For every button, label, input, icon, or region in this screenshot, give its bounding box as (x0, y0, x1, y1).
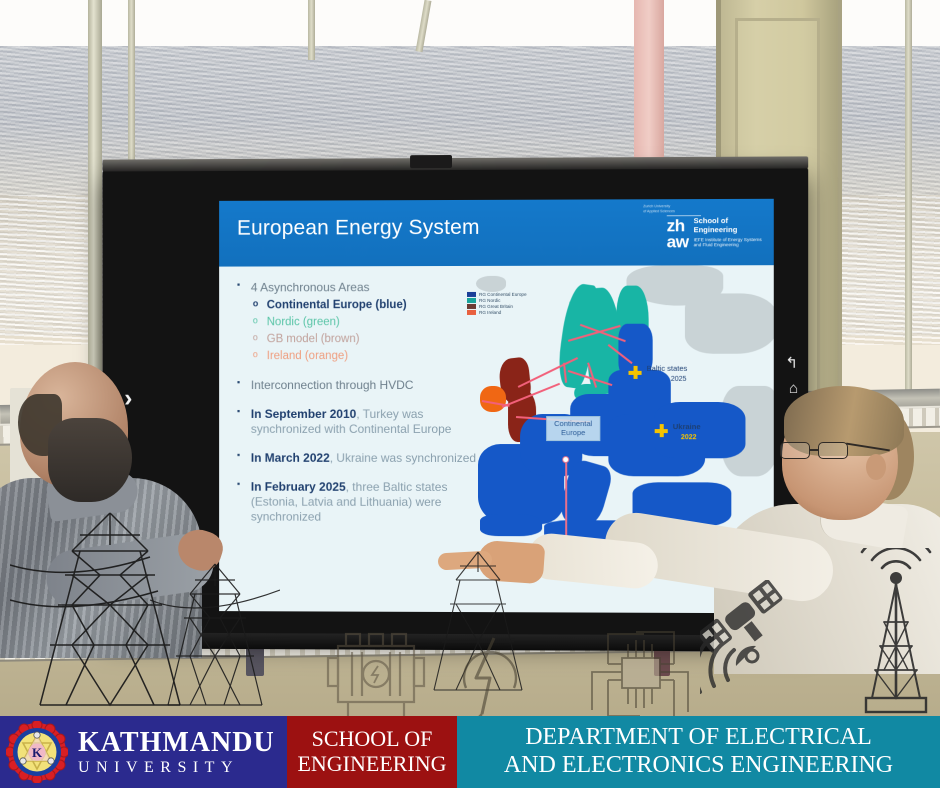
legend-label: RG Continental Europe (479, 292, 527, 297)
bullet-lead: In February 2025 (251, 479, 346, 493)
radio-tower-icon (842, 548, 940, 716)
banner-university-segment: K KATHMANDU UNIVERSITY (0, 716, 287, 788)
map-region-morocco (480, 514, 542, 536)
bullet-text: 4 Asynchronous Areas (251, 280, 370, 294)
display-top-rail (102, 156, 808, 171)
map-legend: RG Continental Europe RG Nordic RG Great… (467, 292, 527, 316)
map-region-russia (685, 293, 774, 353)
map-label-baltic-year: 2025 (671, 376, 687, 383)
zhaw-school-text: School ofEngineering IEFE Institute of E… (694, 204, 762, 248)
sub-bullet-ireland: Ireland (orange) (233, 349, 490, 364)
display-camera (410, 155, 452, 168)
undo-icon[interactable]: ↰ (785, 354, 798, 372)
bullet-item: In February 2025, three Baltic states (E… (233, 479, 490, 524)
legend-item: RG Nordic (467, 298, 527, 303)
legend-label: RG Nordic (479, 298, 500, 303)
legend-label: RG Great Britain (479, 304, 513, 309)
department-name-line1: DEPARTMENT OF ELECTRICAL (504, 724, 893, 752)
baltic-marker-icon (629, 366, 642, 379)
map-label-ukraine: Ukraine (673, 422, 701, 431)
map-label-ukraine-year: 2022 (681, 434, 697, 441)
university-name-line2: UNIVERSITY (78, 760, 275, 776)
map-label-continental-europe: ContinentalEurope (546, 416, 600, 441)
sub-bullet-nordic: Nordic (green) (233, 315, 490, 330)
zhaw-school-name: School ofEngineering (694, 217, 762, 235)
sub-bullet-label: Ireland (orange) (267, 350, 348, 362)
map-region-iceland (476, 276, 506, 292)
slide-header: European Energy System Zurich University… (219, 199, 774, 267)
bullet-item: Interconnection through HVDC (233, 378, 490, 393)
school-name-line2: ENGINEERING (297, 752, 446, 777)
legend-item: RG Continental Europe (467, 292, 527, 297)
map-label-baltic-states: Baltic states (647, 364, 688, 373)
sub-bullet-gb: GB model (brown) (233, 332, 490, 347)
zhaw-wordmark: zh aw (667, 204, 689, 250)
lightning-bolt-icon (452, 630, 528, 726)
legend-swatch (467, 298, 476, 303)
university-name-line1: KATHMANDU (78, 729, 275, 757)
bullet-item: In September 2010, Turkey was synchroniz… (233, 407, 490, 437)
transmission-tower-icon (150, 560, 280, 710)
zhaw-logo: zh aw School ofEngineering IEFE Institut… (667, 204, 762, 250)
window-mullion (308, 0, 315, 60)
banner-school-segment: SCHOOL OF ENGINEERING (287, 716, 457, 788)
bullet-text: , Ukraine was synchronized (330, 451, 476, 465)
bullet-lead: In September 2010 (251, 407, 356, 421)
zhaw-institute-name: IEFE Institute of Energy Systemsand Flui… (694, 237, 762, 248)
legend-swatch (467, 310, 476, 315)
map-region-ireland (480, 386, 506, 412)
sub-bullet-label: Nordic (green) (267, 316, 340, 328)
bottom-banner: K KATHMANDU UNIVERSITY SCHOOL OF ENGINEE… (0, 716, 940, 788)
school-name-line1: SCHOOL OF (297, 727, 446, 752)
sub-bullet-label: Continental Europe (blue) (267, 299, 407, 311)
department-name: DEPARTMENT OF ELECTRICAL AND ELECTRONICS… (504, 724, 893, 780)
glasses-lens-right (818, 442, 848, 459)
legend-swatch (467, 292, 476, 297)
satellite-icon (700, 580, 820, 700)
legend-item: RG Great Britain (467, 304, 527, 309)
glasses-lens-left (780, 442, 810, 459)
left-person-beard (48, 418, 132, 502)
legend-item: RG Ireland (467, 310, 527, 315)
slide-bullet-list: 4 Asynchronous Areas Continental Europe … (233, 280, 490, 528)
right-person-glasses (780, 442, 862, 460)
sub-bullet-label: GB model (brown) (267, 333, 360, 345)
bullet-item: In March 2022, Ukraine was synchronized (233, 451, 490, 466)
presentation-photo: › ↰ ⌂ European Energy System Zurich Univ… (0, 0, 940, 788)
zhaw-wordmark-line2: aw (667, 234, 689, 250)
department-name-line2: AND ELECTRONICS ENGINEERING (504, 752, 893, 780)
slide-title: European Energy System (237, 216, 480, 241)
school-name: SCHOOL OF ENGINEERING (297, 727, 446, 776)
ukraine-marker-icon (655, 424, 668, 437)
sub-bullet-continental: Continental Europe (blue) (233, 298, 490, 313)
bullet-item: 4 Asynchronous Areas (233, 280, 490, 296)
transformer-icon (318, 628, 434, 724)
bullet-lead: In March 2022 (251, 451, 330, 465)
banner-department-segment: DEPARTMENT OF ELECTRICAL AND ELECTRONICS… (457, 716, 940, 788)
window-mullion (905, 0, 912, 420)
university-name: KATHMANDU UNIVERSITY (78, 729, 275, 776)
kathmandu-university-logo: K (6, 721, 68, 783)
right-person-ear (866, 454, 886, 480)
bullet-text: Interconnection through HVDC (251, 378, 414, 392)
legend-swatch (467, 304, 476, 309)
svg-text:K: K (32, 745, 43, 760)
legend-label: RG Ireland (479, 310, 501, 315)
switzerland-marker-dot (562, 456, 569, 463)
microchip-icon (584, 620, 694, 728)
